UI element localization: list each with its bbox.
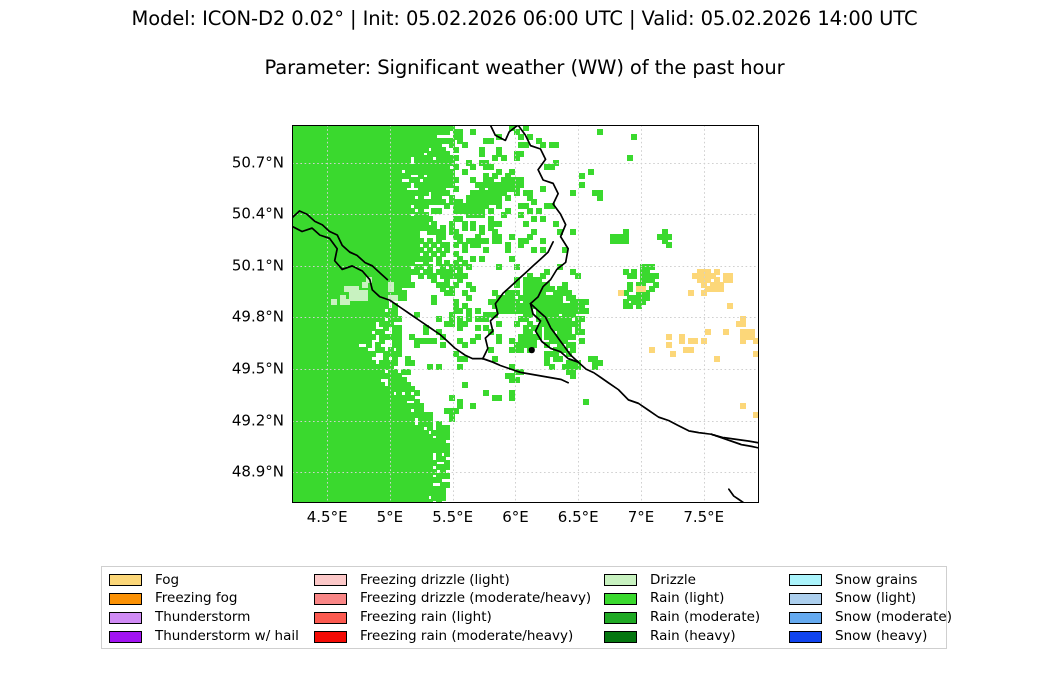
legend-item-label: Snow grains [835,574,917,588]
legend-item[interactable]: Thunderstorm [102,609,307,627]
y-axis-ticks: 50.7°N50.4°N50.1°N49.8°N49.5°N49.2°N48.9… [222,125,284,503]
legend-item-label: Thunderstorm w/ hail [155,630,299,644]
title-block: Model: ICON-D2 0.02° | Init: 05.02.2026 … [0,0,1049,77]
legend-color-swatch [314,574,347,586]
legend-item-label: Rain (moderate) [650,611,760,625]
legend-item[interactable]: Snow grains [782,571,948,589]
y-tick-label: 49.8°N [232,310,284,325]
weather-map[interactable] [292,125,759,503]
x-tick-label: 6.5°E [558,510,599,525]
weather-map-canvas[interactable] [292,125,759,503]
legend-item[interactable]: Rain (light) [597,590,782,608]
y-tick-label: 50.4°N [232,207,284,222]
legend-item[interactable]: Snow (light) [782,590,948,608]
legend-color-swatch [109,631,142,643]
legend-color-swatch [314,631,347,643]
legend-color-swatch [314,612,347,624]
y-tick-label: 50.7°N [232,155,284,170]
legend-item[interactable]: Freezing drizzle (light) [307,571,597,589]
y-tick-label: 50.1°N [232,258,284,273]
x-tick-label: 7.5°E [683,510,724,525]
legend-item-label: Thunderstorm [155,611,250,625]
legend-color-swatch [109,593,142,605]
legend-item-label: Snow (heavy) [835,630,927,644]
legend-item-label: Rain (light) [650,592,724,606]
legend-item[interactable]: Snow (heavy) [782,628,948,646]
legend-item-label: Freezing drizzle (moderate/heavy) [360,592,591,606]
legend-color-swatch [604,593,637,605]
x-axis-ticks: 4.5°E5°E5.5°E6°E6.5°E7°E7.5°E [292,510,759,530]
legend-item-label: Freezing drizzle (light) [360,574,510,588]
legend-item[interactable]: Freezing rain (light) [307,609,597,627]
legend-grid: FogFreezing fogThunderstormThunderstorm … [102,567,948,650]
x-tick-label: 6°E [502,510,529,525]
legend-color-swatch [109,574,142,586]
legend-item-label: Drizzle [650,574,696,588]
x-tick-label: 5°E [377,510,404,525]
x-tick-label: 5.5°E [432,510,473,525]
legend-item[interactable]: Fog [102,571,307,589]
legend-item-label: Snow (light) [835,592,916,606]
legend-item[interactable]: Freezing fog [102,590,307,608]
legend-color-swatch [789,612,822,624]
legend-item[interactable]: Drizzle [597,571,782,589]
legend-item-label: Freezing rain (light) [360,611,492,625]
legend-item-label: Fog [155,574,179,588]
legend-item[interactable]: Rain (moderate) [597,609,782,627]
page-title: Model: ICON-D2 0.02° | Init: 05.02.2026 … [0,0,1049,29]
y-tick-label: 49.2°N [232,413,284,428]
legend-item-label: Freezing rain (moderate/heavy) [360,630,573,644]
x-tick-label: 4.5°E [307,510,348,525]
legend-item[interactable]: Rain (heavy) [597,628,782,646]
y-tick-label: 48.9°N [232,465,284,480]
legend-color-swatch [604,574,637,586]
legend-item-label: Snow (moderate) [835,611,952,625]
legend-item-label: Freezing fog [155,592,237,606]
legend-color-swatch [789,574,822,586]
legend-color-swatch [314,593,347,605]
legend-color-swatch [604,631,637,643]
legend-item[interactable]: Freezing rain (moderate/heavy) [307,628,597,646]
legend-item-label: Rain (heavy) [650,630,736,644]
legend-item[interactable]: Freezing drizzle (moderate/heavy) [307,590,597,608]
page-subtitle: Parameter: Significant weather (WW) of t… [0,29,1049,78]
legend-item[interactable]: Thunderstorm w/ hail [102,628,307,646]
legend-item[interactable]: Snow (moderate) [782,609,948,627]
y-tick-label: 49.5°N [232,361,284,376]
legend: FogFreezing fogThunderstormThunderstorm … [101,566,947,649]
x-tick-label: 7°E [628,510,655,525]
legend-color-swatch [604,612,637,624]
legend-color-swatch [109,612,142,624]
legend-color-swatch [789,631,822,643]
legend-color-swatch [789,593,822,605]
